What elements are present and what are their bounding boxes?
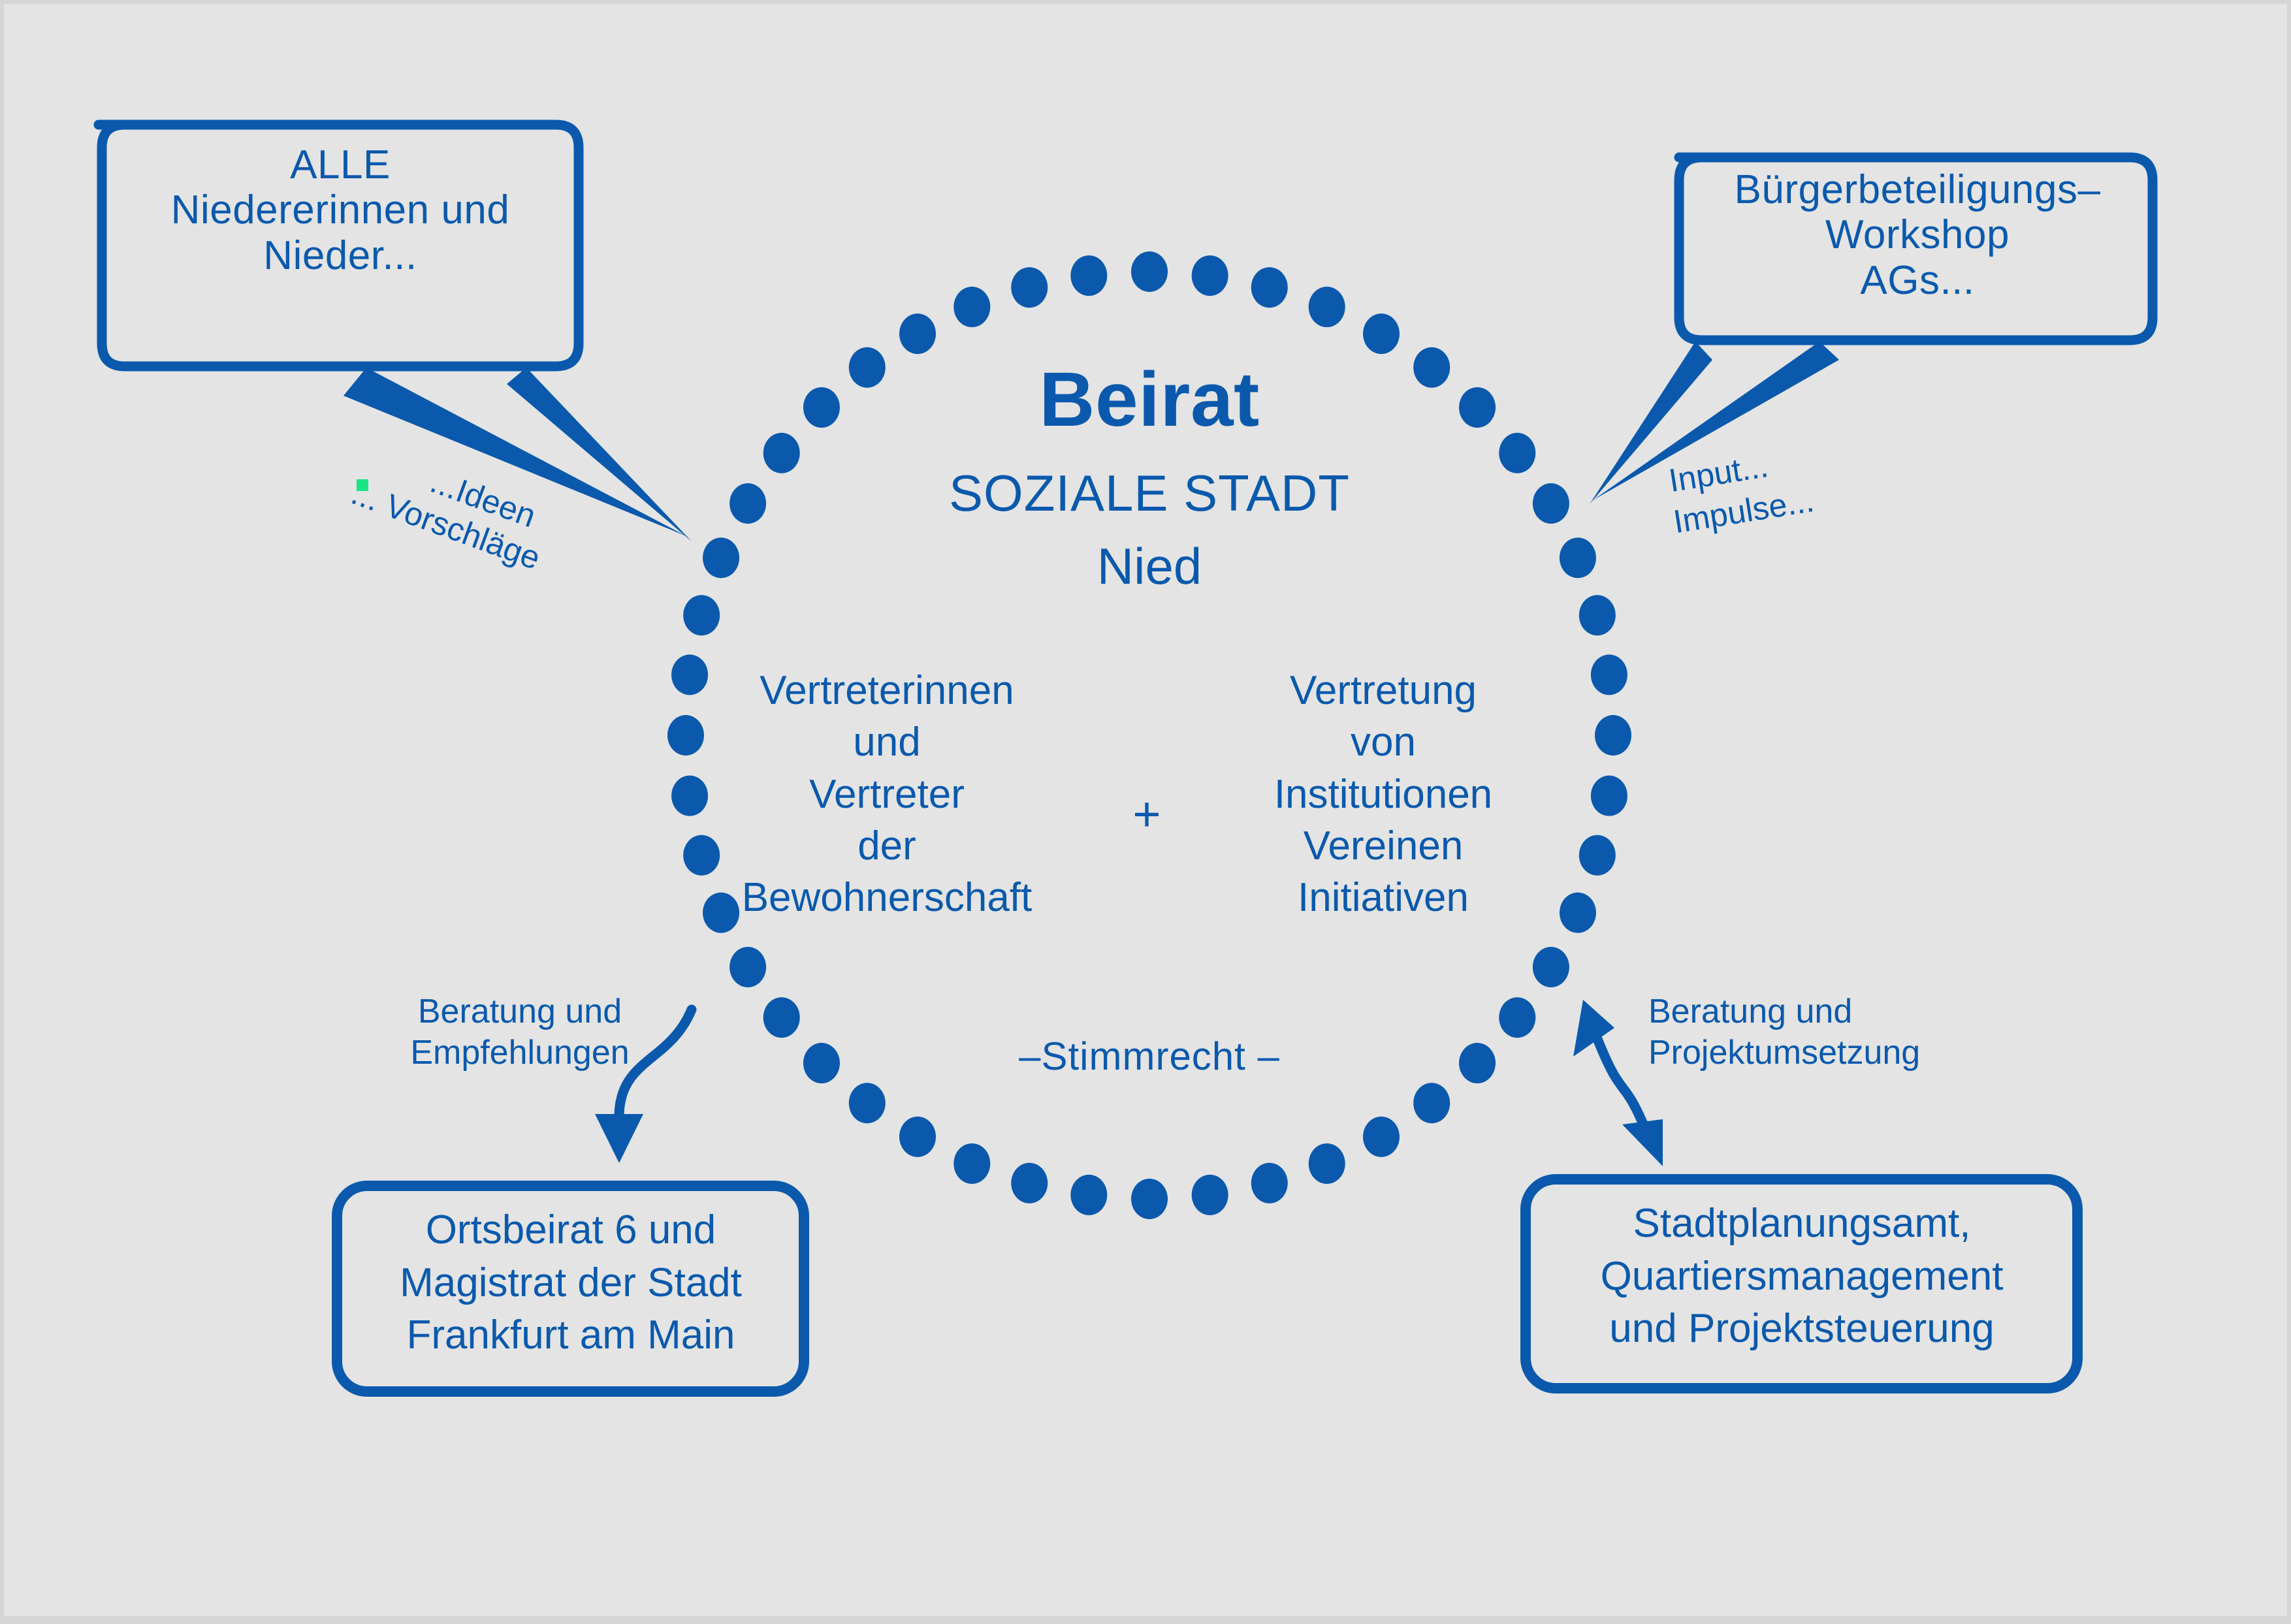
ring-dot xyxy=(1011,1163,1048,1203)
ring-dot xyxy=(1251,267,1288,308)
ring-dot xyxy=(1591,654,1627,695)
annotation-left-beratung-line1: Beratung und xyxy=(366,991,673,1032)
ring-dot xyxy=(1533,947,1569,987)
ring-dot xyxy=(1131,251,1168,292)
right-col-line3: Institutionen xyxy=(1220,769,1546,820)
bubble-top-right-text: Bürgerbeteiligungs– Workshop AGs... xyxy=(1682,167,2153,303)
ring-dot xyxy=(683,835,720,876)
ring-dot xyxy=(1413,1083,1450,1123)
center-left-column: Vertreterinnen und Vertreter der Bewohne… xyxy=(717,665,1057,924)
left-col-line5: Bewohnerschaft xyxy=(717,872,1057,923)
box-br-line1: Stadtplanungsamt, xyxy=(1527,1198,2077,1250)
ring-dot xyxy=(1560,537,1596,578)
box-br-line2: Quartiersmanagement xyxy=(1527,1250,2077,1303)
ring-dot xyxy=(953,1143,990,1184)
left-col-line2: und xyxy=(717,716,1057,768)
ring-dot xyxy=(671,776,708,816)
center-subtitle-line2: Nied xyxy=(823,538,1476,595)
ring-dot xyxy=(1533,483,1569,524)
left-col-line3: Vertreter xyxy=(717,769,1057,820)
ring-dot xyxy=(1192,1175,1228,1215)
right-col-line1: Vertretung xyxy=(1220,665,1546,716)
page-title: Beirat xyxy=(823,357,1476,443)
bubble-top-left-text: ALLE Niedererinnen und Nieder... xyxy=(102,142,579,278)
ring-dot xyxy=(703,537,739,578)
ring-dot xyxy=(1070,255,1107,296)
ring-dot xyxy=(1363,1117,1400,1157)
ring-dot xyxy=(1363,313,1400,354)
ring-dot xyxy=(1591,776,1627,816)
annotation-right-beratung-line1: Beratung und xyxy=(1648,991,2014,1032)
center-right-column: Vertretung von Institutionen Vereinen In… xyxy=(1220,665,1546,924)
bubble-tr-line1: Bürgerbeteiligungs– xyxy=(1682,167,2153,212)
bubble-tl-line1: ALLE xyxy=(102,142,579,187)
ring-dot xyxy=(1309,1143,1345,1184)
box-br-line3: und Projektsteuerung xyxy=(1527,1303,2077,1356)
ring-dot xyxy=(671,654,708,695)
ring-dot xyxy=(1595,715,1631,756)
right-col-line2: von xyxy=(1220,716,1546,768)
diagram-canvas: ALLE Niedererinnen und Nieder... Bürgerb… xyxy=(0,0,2291,1620)
box-bl-line3: Frankfurt am Main xyxy=(338,1309,803,1362)
center-operator: + xyxy=(1075,788,1219,842)
box-bl-line2: Magistrat der Stadt xyxy=(338,1257,803,1310)
ring-dot xyxy=(1579,835,1616,876)
ring-dot xyxy=(1560,893,1596,933)
annotation-left-beratung-line2: Empfehlungen xyxy=(366,1032,673,1074)
ring-dot xyxy=(1131,1179,1168,1219)
ring-dot xyxy=(899,1117,936,1157)
center-subtitle-line1: SOZIALE STADT xyxy=(823,465,1476,522)
ring-dot xyxy=(899,313,936,354)
ring-dot xyxy=(1192,255,1228,296)
ring-dot xyxy=(1499,433,1535,473)
ring-dot xyxy=(1499,997,1535,1038)
ring-dot xyxy=(763,997,800,1038)
ring-dot xyxy=(1251,1163,1288,1203)
ring-dot xyxy=(1070,1175,1107,1215)
annotation-right-beratung-line2: Projektumsetzung xyxy=(1648,1032,2014,1074)
ring-dot xyxy=(729,483,766,524)
left-col-line4: der xyxy=(717,820,1057,872)
ring-dot xyxy=(667,715,704,756)
bubble-tr-line2: Workshop xyxy=(1682,212,2153,257)
ring-dot xyxy=(1011,267,1048,308)
ring-dot xyxy=(729,947,766,987)
right-col-line5: Initiativen xyxy=(1220,872,1546,923)
box-bl-line1: Ortsbeirat 6 und xyxy=(338,1204,803,1257)
annotation-right-beratung: Beratung und Projektumsetzung xyxy=(1648,991,2014,1074)
ring-dot xyxy=(849,1083,886,1123)
ring-dot xyxy=(1309,287,1345,327)
box-bottom-right-text: Stadtplanungsamt, Quartiersmanagement un… xyxy=(1527,1198,2077,1356)
bubble-tr-line3: AGs... xyxy=(1682,258,2153,303)
right-col-line4: Vereinen xyxy=(1220,820,1546,872)
bubble-tl-line2: Niedererinnen und xyxy=(102,187,579,232)
ring-dot xyxy=(953,287,990,327)
center-footer-note: –Stimmrecht – xyxy=(823,1034,1476,1078)
box-bottom-left-text: Ortsbeirat 6 und Magistrat der Stadt Fra… xyxy=(338,1204,803,1362)
left-col-line1: Vertreterinnen xyxy=(717,665,1057,716)
annotation-left-beratung: Beratung und Empfehlungen xyxy=(366,991,673,1074)
ring-dot xyxy=(1579,595,1616,635)
bubble-tl-line3: Nieder... xyxy=(102,233,579,278)
ring-dot xyxy=(763,433,800,473)
ring-dot xyxy=(683,595,720,635)
